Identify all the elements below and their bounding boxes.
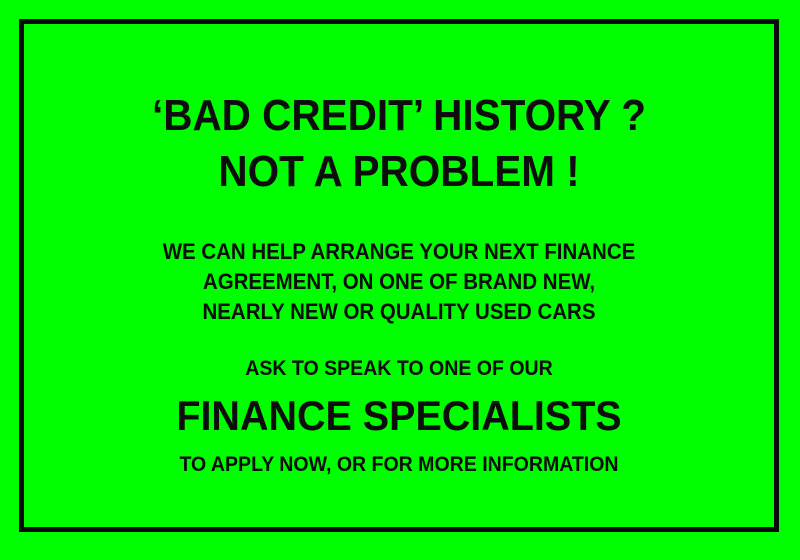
- headline-line-1: ‘BAD CREDIT’ HISTORY ?: [54, 88, 744, 144]
- paragraph-line-2: AGREEMENT, ON ONE OF BRAND NEW,: [50, 267, 748, 297]
- call-to-action-block: ASK TO SPEAK TO ONE OF OUR FINANCE SPECI…: [24, 354, 774, 480]
- paragraph-line-3: NEARLY NEW OR QUALITY USED CARS: [50, 297, 748, 327]
- paragraph-block: WE CAN HELP ARRANGE YOUR NEXT FINANCE AG…: [24, 237, 774, 327]
- headline-line-2: NOT A PROBLEM !: [54, 144, 744, 200]
- poster-content: ‘BAD CREDIT’ HISTORY ? NOT A PROBLEM ! W…: [24, 24, 774, 527]
- paragraph-line-1: WE CAN HELP ARRANGE YOUR NEXT FINANCE: [50, 237, 748, 267]
- cta-prompt: ASK TO SPEAK TO ONE OF OUR: [50, 354, 748, 384]
- cta-footer: TO APPLY NOW, OR FOR MORE INFORMATION: [50, 450, 748, 480]
- advert-poster: ‘BAD CREDIT’ HISTORY ? NOT A PROBLEM ! W…: [0, 0, 800, 560]
- headline-block: ‘BAD CREDIT’ HISTORY ? NOT A PROBLEM !: [24, 88, 774, 200]
- cta-emphasis: FINANCE SPECIALISTS: [47, 388, 752, 444]
